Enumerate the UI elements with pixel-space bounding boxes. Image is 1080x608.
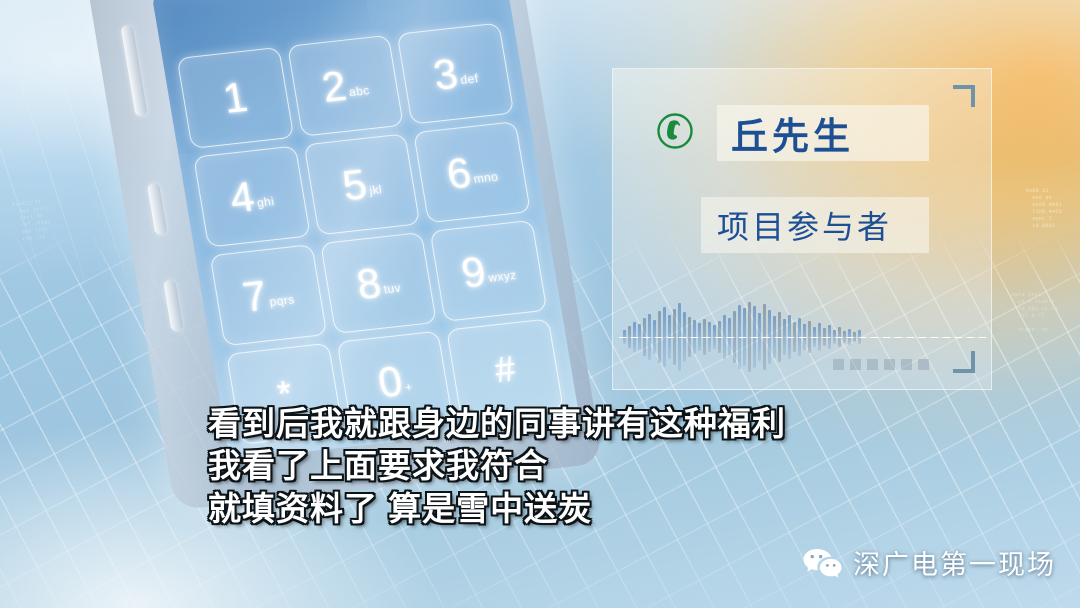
waveform-center-line (619, 337, 987, 338)
subtitle-line: 就填资料了 算是雪中送炭 (208, 489, 840, 529)
broadcast-screen: 0x4A21 ff sys.init() ctrl 88 ref::0192 m… (0, 0, 1080, 608)
subtitle-block: 看到后我就跟身边的同事讲有这种福利 我看了上面要求我符合 就填资料了 算是雪中送… (0, 404, 840, 529)
wechat-logo-icon (801, 547, 843, 579)
waveform-indicator-squares (833, 359, 929, 370)
caller-name: 丘先生 (731, 107, 931, 159)
phone-side-button-upper (147, 183, 168, 236)
caller-info-panel: 丘先生 项目参与者 (612, 68, 992, 390)
channel-name: 深广电第一现场 (853, 543, 1056, 582)
channel-watermark: 深广电第一现场 (801, 543, 1056, 582)
audio-waveform (619, 293, 987, 381)
phone-side-button-volume (121, 25, 148, 117)
phone-handset-circle-icon (655, 111, 695, 151)
subtitle-line: 我看了上面要求我符合 (208, 446, 840, 486)
caller-icon-row (655, 111, 695, 151)
subtitle-line: 看到后我就跟身边的同事讲有这种福利 (208, 404, 840, 444)
screen-glare (152, 0, 580, 460)
caller-role: 项目参与者 (717, 197, 937, 253)
phone-screen: 12abc3def4ghi5jkl6mno7pqrs8tuv9wxyz*0+# (152, 0, 580, 460)
phone-side-button-lower (163, 279, 184, 332)
corner-bracket-top-right-icon (953, 85, 975, 107)
